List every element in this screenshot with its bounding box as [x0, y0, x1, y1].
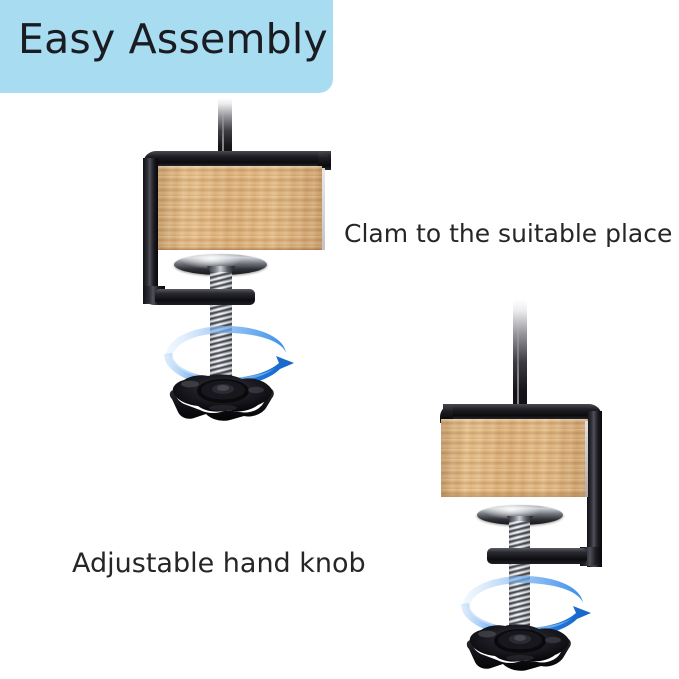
star-hand-knob-icon: [465, 618, 573, 676]
infographic-canvas: Easy Assembly: [0, 0, 679, 679]
clamp-bracket-top-bar: [443, 404, 602, 419]
clamp-pressure-plate: [487, 548, 587, 564]
clamp-bracket-vertical-arm: [587, 411, 602, 567]
mounting-pole-icon: [513, 300, 527, 412]
wooden-desk-panel: [441, 419, 588, 497]
desk-panel-edge: [585, 421, 588, 497]
clamp-assembly-lower: [0, 0, 679, 679]
